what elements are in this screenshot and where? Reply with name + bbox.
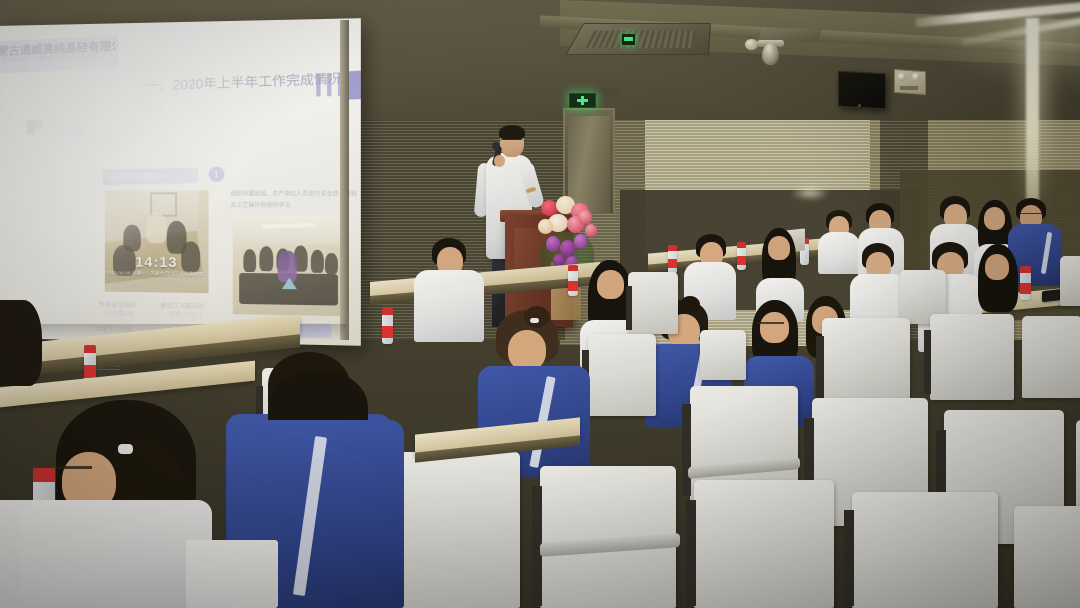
exit-glyph-secondary xyxy=(624,37,633,41)
bottle-label xyxy=(737,256,746,265)
person-glasses-icon xyxy=(756,322,784,327)
person-body-white xyxy=(22,500,212,608)
person-body-white xyxy=(818,232,860,274)
person-body-white xyxy=(414,270,484,342)
projector-hotspot xyxy=(0,18,294,269)
wall-speaker-icon-right xyxy=(912,73,920,81)
hair-tie-icon xyxy=(118,444,133,454)
exit-cross-glyph xyxy=(577,96,588,105)
seat-divider xyxy=(682,404,691,496)
seat-divider xyxy=(844,510,854,606)
person-head xyxy=(760,312,789,343)
ceiling-spotlight xyxy=(790,186,830,200)
document-paper xyxy=(186,540,278,608)
auditorium-seat[interactable] xyxy=(930,314,1014,400)
auditorium-seat[interactable] xyxy=(852,492,998,608)
microphone-head xyxy=(492,142,500,150)
person-glasses-icon xyxy=(56,466,92,474)
bottle-cap xyxy=(1020,266,1031,273)
seat-divider xyxy=(626,286,632,330)
bottle-cap xyxy=(568,265,578,271)
person-glasses-icon xyxy=(1019,213,1043,217)
bottle-label xyxy=(1020,283,1031,294)
person-head xyxy=(508,330,546,370)
bottle-cap xyxy=(33,468,55,482)
flower-bloom xyxy=(546,236,560,252)
bottle-label xyxy=(568,281,578,291)
bottle-cap xyxy=(668,245,677,251)
wall-mounted-monitor xyxy=(838,71,886,110)
person-head xyxy=(985,254,1009,280)
seat-divider xyxy=(816,336,824,402)
seat-divider xyxy=(686,500,696,606)
air-conditioner-slats xyxy=(585,31,696,48)
door-panel xyxy=(568,116,610,213)
bottle-label xyxy=(84,365,96,378)
auditorium-seat[interactable] xyxy=(694,480,834,608)
bottle-cap xyxy=(84,345,96,353)
auditorium-seat[interactable] xyxy=(1022,316,1080,398)
auditorium-seat[interactable] xyxy=(700,330,746,380)
auditorium-seat[interactable] xyxy=(588,334,656,416)
person-hair-bun-knot xyxy=(680,296,700,313)
flower-bloom xyxy=(574,234,587,249)
flower-bloom xyxy=(538,219,553,234)
person-partial-left xyxy=(0,300,42,386)
presenter-hair xyxy=(499,125,525,140)
auditorium-seat[interactable] xyxy=(822,318,910,408)
monitor-power-led xyxy=(858,104,861,107)
presenter-glasses-icon xyxy=(501,139,522,143)
person-head xyxy=(768,236,790,260)
seat-divider xyxy=(924,330,931,394)
projection-screen: 内蒙古通威高纯晶硅有限公司 Inner Mongolia Tongwei Sil… xyxy=(0,18,361,346)
person-head xyxy=(597,270,624,299)
bottle-label xyxy=(668,259,677,268)
auditorium-photo-scene: 内蒙古通威高纯晶硅有限公司 Inner Mongolia Tongwei Sil… xyxy=(0,0,1080,608)
flower-bloom xyxy=(578,210,592,225)
person-hair-bun-knot xyxy=(524,306,550,328)
wall-speaker-icon-left xyxy=(898,73,906,81)
bottle-cap xyxy=(382,308,393,315)
bottle-cap xyxy=(737,242,746,248)
person-head xyxy=(984,207,1005,230)
auditorium-seat[interactable] xyxy=(1014,506,1080,608)
auditorium-seat[interactable] xyxy=(628,272,678,334)
bottle-label xyxy=(382,326,393,338)
wall-control-slot xyxy=(900,86,918,90)
hair-clip-icon xyxy=(530,318,539,323)
auditorium-seat[interactable] xyxy=(1060,256,1080,306)
security-camera-icon xyxy=(762,43,779,65)
emergency-exit-sign-icon xyxy=(569,93,596,108)
screen-bezel-right xyxy=(340,20,349,340)
auditorium-seat[interactable] xyxy=(392,452,520,608)
flower-bloom xyxy=(585,224,597,237)
led-strip-vertical xyxy=(1026,18,1039,208)
projection-screen-surface: 内蒙古通威高纯晶硅有限公司 Inner Mongolia Tongwei Sil… xyxy=(0,18,361,346)
presenter-hand xyxy=(494,155,505,167)
